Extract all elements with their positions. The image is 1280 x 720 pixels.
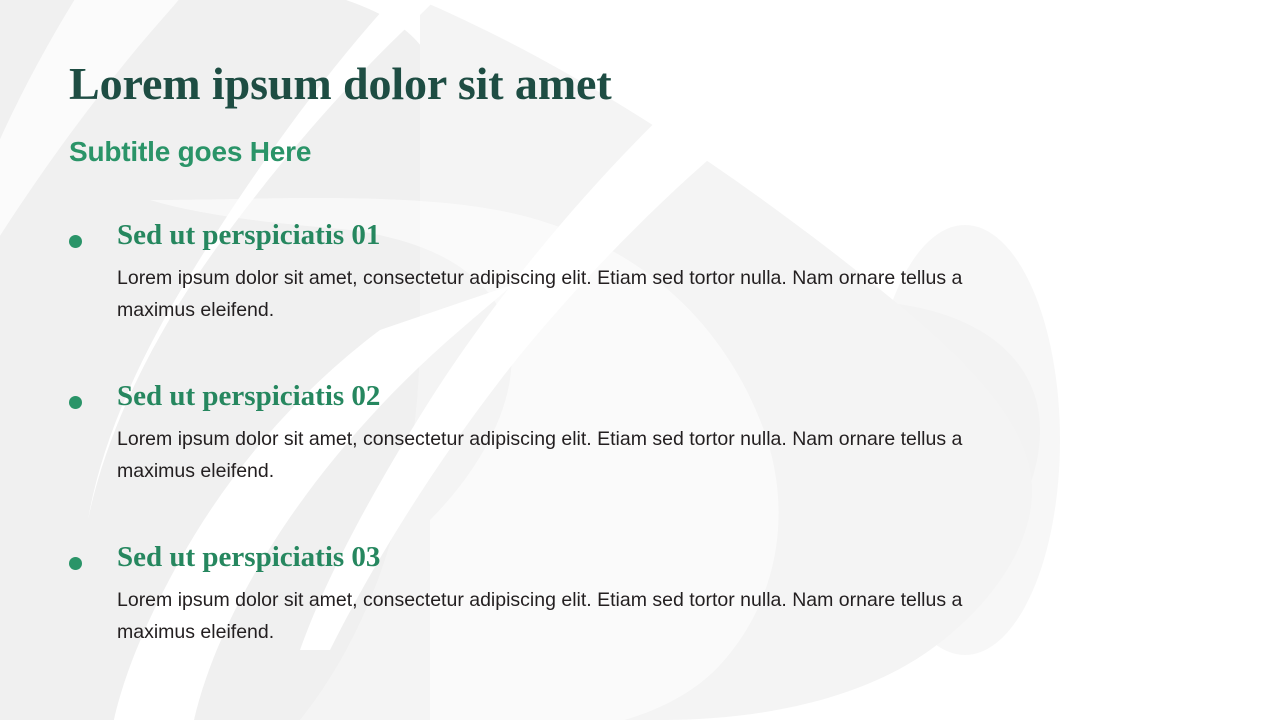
bullet-body-text: Lorem ipsum dolor sit amet, consectetur … [117,423,1009,487]
list-item: Sed ut perspiciatis 02 Lorem ipsum dolor… [69,377,1029,487]
bullet-dot-icon [69,235,82,248]
bullet-list: Sed ut perspiciatis 01 Lorem ipsum dolor… [69,216,1029,648]
slide-content: Lorem ipsum dolor sit amet Subtitle goes… [69,0,1069,720]
bullet-dot-icon [69,557,82,570]
bullet-body-text: Lorem ipsum dolor sit amet, consectetur … [117,262,1009,326]
bullet-heading: Sed ut perspiciatis 01 [117,216,1029,254]
slide: Lorem ipsum dolor sit amet Subtitle goes… [0,0,1280,720]
bullet-heading: Sed ut perspiciatis 02 [117,377,1029,415]
bullet-heading: Sed ut perspiciatis 03 [117,538,1029,576]
page-subtitle: Subtitle goes Here [69,134,311,170]
list-item: Sed ut perspiciatis 03 Lorem ipsum dolor… [69,538,1029,648]
page-title: Lorem ipsum dolor sit amet [69,55,612,113]
bullet-body-text: Lorem ipsum dolor sit amet, consectetur … [117,584,1009,648]
bullet-dot-icon [69,396,82,409]
list-item: Sed ut perspiciatis 01 Lorem ipsum dolor… [69,216,1029,326]
